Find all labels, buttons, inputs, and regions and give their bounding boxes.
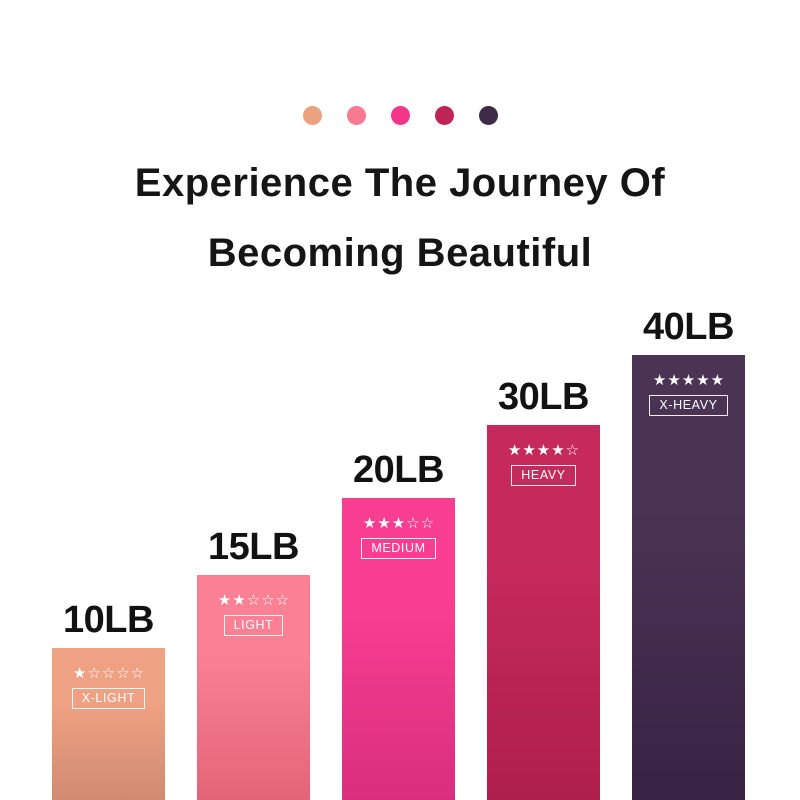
bar-chart: 10LB★☆☆☆☆X-LIGHT15LB★★☆☆☆LIGHT20LB★★★☆☆M… — [0, 0, 800, 800]
bar-badge: ★★★★★X-HEAVY — [632, 373, 745, 416]
star-filled-icon: ★ — [377, 516, 390, 531]
bar-rect[interactable]: ★☆☆☆☆X-LIGHT — [52, 648, 165, 800]
star-filled-icon: ★ — [218, 593, 231, 608]
star-rating: ★☆☆☆☆ — [73, 666, 144, 681]
bar-value-label: 10LB — [63, 599, 154, 642]
star-filled-icon: ★ — [73, 666, 86, 681]
bar-group-x-heavy[interactable]: 40LB★★★★★X-HEAVY — [632, 355, 745, 800]
star-filled-icon: ★ — [696, 373, 709, 388]
star-rating: ★★★★☆ — [508, 443, 579, 458]
star-rating: ★★☆☆☆ — [218, 593, 289, 608]
star-filled-icon: ★ — [522, 443, 535, 458]
bar-value-label: 20LB — [353, 449, 444, 492]
star-filled-icon: ★ — [232, 593, 245, 608]
star-rating: ★★★★★ — [653, 373, 724, 388]
resistance-band-chart-poster: Experience The Journey Of Becoming Beaut… — [0, 0, 800, 800]
star-empty-icon: ☆ — [247, 593, 260, 608]
star-filled-icon: ★ — [363, 516, 376, 531]
bar-value-label: 40LB — [643, 306, 734, 349]
star-rating: ★★★☆☆ — [363, 516, 434, 531]
bar-badge: ★★☆☆☆LIGHT — [197, 593, 310, 636]
bar-badge: ★☆☆☆☆X-LIGHT — [52, 666, 165, 709]
star-empty-icon: ☆ — [276, 593, 289, 608]
bar-group-x-light[interactable]: 10LB★☆☆☆☆X-LIGHT — [52, 648, 165, 800]
bar-rect[interactable]: ★★★★★X-HEAVY — [632, 355, 745, 800]
star-empty-icon: ☆ — [116, 666, 129, 681]
star-empty-icon: ☆ — [566, 443, 579, 458]
star-filled-icon: ★ — [682, 373, 695, 388]
star-empty-icon: ☆ — [102, 666, 115, 681]
bar-group-light[interactable]: 15LB★★☆☆☆LIGHT — [197, 575, 310, 800]
star-filled-icon: ★ — [667, 373, 680, 388]
level-label: HEAVY — [511, 465, 575, 486]
bar-value-label: 30LB — [498, 376, 589, 419]
star-empty-icon: ☆ — [406, 516, 419, 531]
level-label: LIGHT — [224, 615, 284, 636]
bar-badge: ★★★★☆HEAVY — [487, 443, 600, 486]
bar-rect[interactable]: ★★☆☆☆LIGHT — [197, 575, 310, 800]
star-filled-icon: ★ — [508, 443, 521, 458]
bar-rect[interactable]: ★★★☆☆MEDIUM — [342, 498, 455, 800]
bar-group-medium[interactable]: 20LB★★★☆☆MEDIUM — [342, 498, 455, 800]
star-empty-icon: ☆ — [87, 666, 100, 681]
level-label: X-HEAVY — [649, 395, 727, 416]
bar-value-label: 15LB — [208, 526, 299, 569]
bar-badge: ★★★☆☆MEDIUM — [342, 516, 455, 559]
bar-rect[interactable]: ★★★★☆HEAVY — [487, 425, 600, 800]
star-filled-icon: ★ — [653, 373, 666, 388]
star-filled-icon: ★ — [537, 443, 550, 458]
level-label: X-LIGHT — [72, 688, 146, 709]
star-empty-icon: ☆ — [131, 666, 144, 681]
level-label: MEDIUM — [361, 538, 435, 559]
star-empty-icon: ☆ — [261, 593, 274, 608]
star-empty-icon: ☆ — [421, 516, 434, 531]
star-filled-icon: ★ — [551, 443, 564, 458]
star-filled-icon: ★ — [392, 516, 405, 531]
star-filled-icon: ★ — [711, 373, 724, 388]
bar-group-heavy[interactable]: 30LB★★★★☆HEAVY — [487, 425, 600, 800]
